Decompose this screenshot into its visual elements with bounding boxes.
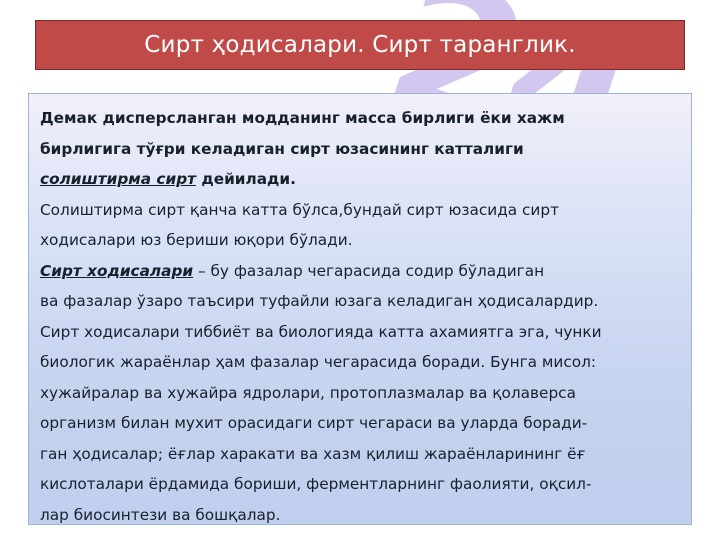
- body-text-segment: биологик жараёнлар ҳам фазалар чегарасид…: [40, 353, 596, 371]
- page-title: Сирт ҳодисалари. Сирт таранглик.: [144, 32, 575, 58]
- body-line: лар биосинтези ва бошқалар.: [40, 500, 681, 526]
- body-text-segment: кислоталари ёрдамида бориши, ферментларн…: [40, 475, 591, 493]
- body-line: солиштирма сирт дейилади.: [40, 164, 681, 195]
- content-text-box: Демак дисперсланган модданинг масса бирл…: [28, 93, 692, 525]
- body-text-segment: ва фазалар ўзаро таъсири туфайли юзага к…: [40, 292, 598, 310]
- body-line: Сирт ходисалари тиббиёт ва биологияда ка…: [40, 317, 681, 348]
- body-text-segment: ходисалари юз бериши юқори бўлади.: [40, 231, 353, 249]
- body-text-segment: Демак дисперсланган модданинг масса бирл…: [40, 109, 565, 127]
- presentation-slide: 24 hujjat Сирт ҳодисалари. Сирт тарангли…: [0, 0, 720, 540]
- body-text-segment: дейилади.: [196, 170, 296, 188]
- body-text-container: Демак дисперсланган модданинг масса бирл…: [29, 94, 691, 525]
- body-text-segment: лар биосинтези ва бошқалар.: [40, 506, 280, 524]
- body-line: организм билан мухит орасидаги сирт чега…: [40, 408, 681, 439]
- body-line: биологик жараёнлар ҳам фазалар чегарасид…: [40, 347, 681, 378]
- body-text-segment: солиштирма сирт: [40, 170, 196, 188]
- body-line: хужайралар ва хужайра ядролари, протопла…: [40, 378, 681, 409]
- body-line: кислоталари ёрдамида бориши, ферментларн…: [40, 469, 681, 500]
- body-line: Сирт ходисалари – бу фазалар чегарасида …: [40, 256, 681, 287]
- body-line: Солиштирма сирт қанча катта бўлса,бундай…: [40, 195, 681, 226]
- body-text-segment: ган ҳодисалар; ёғлар харакати ва хазм қи…: [40, 445, 586, 463]
- body-line: ган ҳодисалар; ёғлар харакати ва хазм қи…: [40, 439, 681, 470]
- body-line: ходисалари юз бериши юқори бўлади.: [40, 225, 681, 256]
- body-line: ва фазалар ўзаро таъсири туфайли юзага к…: [40, 286, 681, 317]
- body-text-segment: бирлигига тўғри келадиган сирт юзасининг…: [40, 140, 524, 158]
- body-text-segment: организм билан мухит орасидаги сирт чега…: [40, 414, 587, 432]
- body-text-segment: хужайралар ва хужайра ядролари, протопла…: [40, 384, 576, 402]
- body-text-segment: Сирт ходисалари: [40, 262, 193, 280]
- slide-title-banner: Сирт ҳодисалари. Сирт таранглик.: [35, 20, 685, 70]
- body-line: Демак дисперсланган модданинг масса бирл…: [40, 103, 681, 134]
- body-text-segment: – бу фазалар чегарасида содир бўладиган: [193, 262, 544, 280]
- body-text-segment: Сирт ходисалари тиббиёт ва биологияда ка…: [40, 323, 602, 341]
- body-line: бирлигига тўғри келадиган сирт юзасининг…: [40, 134, 681, 165]
- body-text-segment: Солиштирма сирт қанча катта бўлса,бундай…: [40, 201, 559, 219]
